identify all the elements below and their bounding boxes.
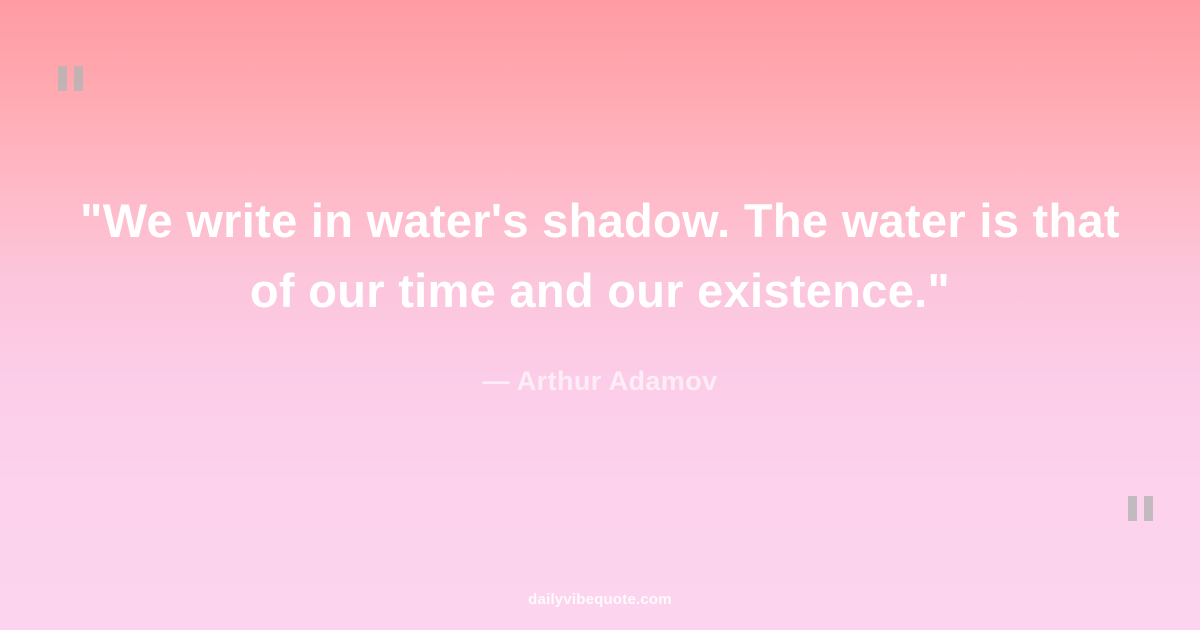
quote-mark-bar-left [58, 66, 67, 91]
quote-author: — Arthur Adamov [0, 366, 1200, 397]
quote-mark-close-icon [1128, 496, 1153, 521]
quote-card: "We write in water's shadow. The water i… [0, 0, 1200, 630]
quote-mark-bar-right [74, 66, 83, 91]
quote-text: "We write in water's shadow. The water i… [0, 186, 1200, 326]
site-footer-watermark: dailyvibequote.com [0, 591, 1200, 608]
quote-mark-bar-left [1128, 496, 1137, 521]
quote-mark-bar-right [1144, 496, 1153, 521]
quote-mark-open-icon [58, 66, 83, 91]
